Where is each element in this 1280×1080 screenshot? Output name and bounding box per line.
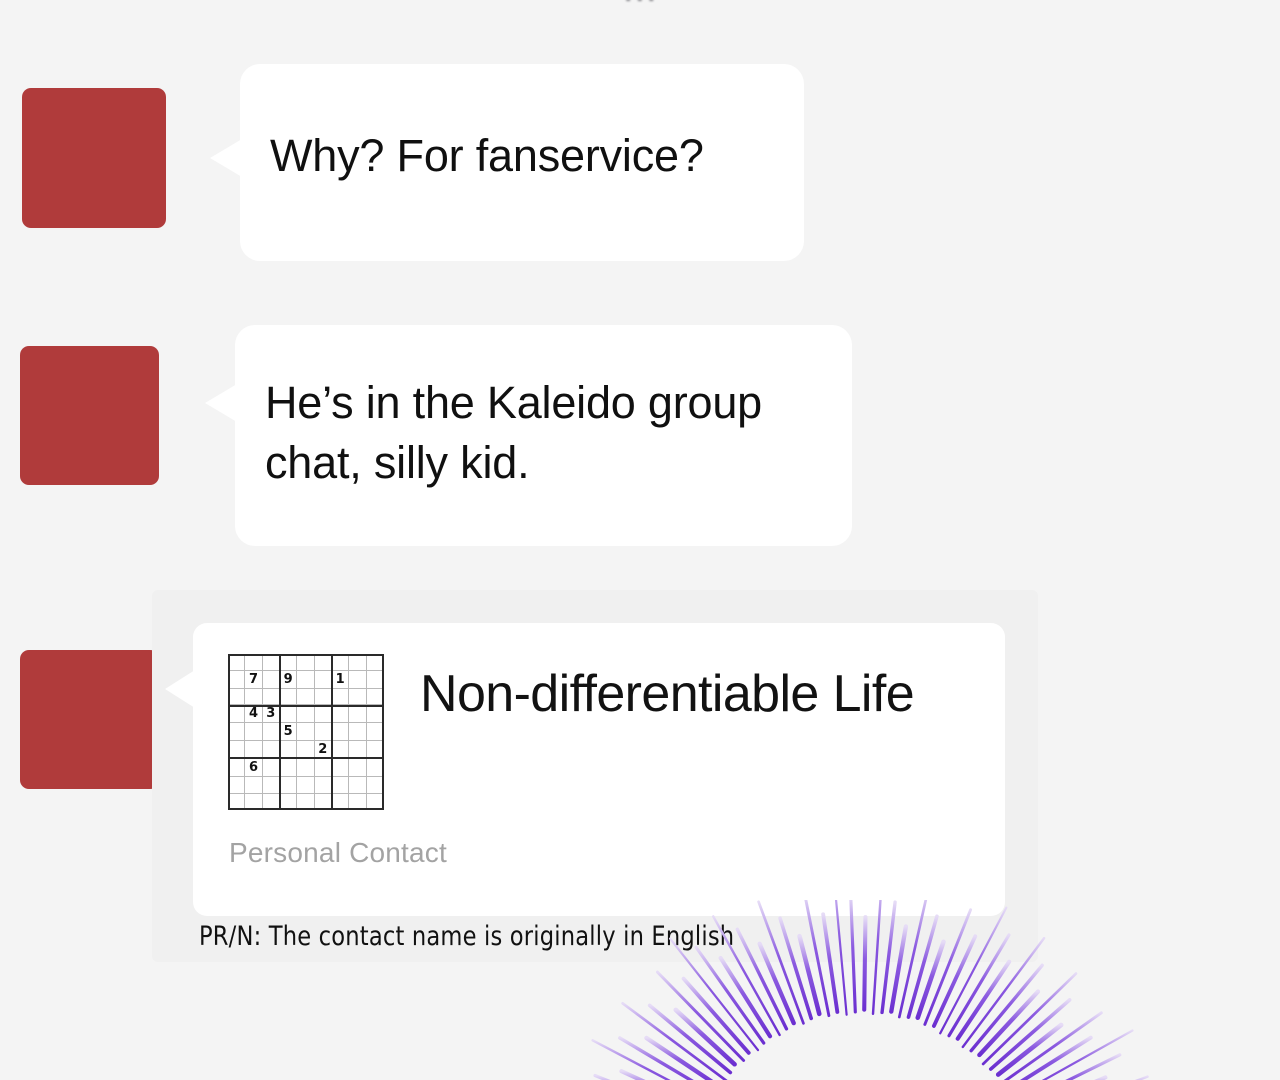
- burst-ray: [1001, 1013, 1102, 1080]
- burst-ray: [1007, 1038, 1090, 1080]
- contact-title-wrap: Non-differentiable Life: [420, 654, 914, 731]
- contact-card[interactable]: 79143526 Non-differentiable Life Persona…: [193, 623, 1005, 916]
- sudoku-cell: 6: [245, 759, 262, 777]
- burst-ray: [657, 972, 743, 1060]
- sudoku-cell: [297, 654, 314, 671]
- avatar[interactable]: [22, 88, 166, 228]
- burst-ray: [595, 1076, 704, 1080]
- sudoku-cell: [228, 654, 245, 671]
- sudoku-cell: [332, 705, 349, 723]
- sudoku-cell: [263, 723, 280, 741]
- sudoku-cell: [349, 671, 366, 689]
- sudoku-cell: [349, 777, 366, 794]
- sudoku-cell: [245, 654, 262, 671]
- sudoku-cell: 3: [263, 705, 280, 723]
- sudoku-cell: [228, 723, 245, 741]
- sudoku-cell: [332, 689, 349, 706]
- burst-ray: [991, 1000, 1070, 1069]
- burst-ray: [650, 1005, 731, 1072]
- sudoku-cell: [349, 654, 366, 671]
- burst-ray: [593, 1040, 713, 1080]
- sudoku-cell: [245, 777, 262, 794]
- chat-message-row: He’s in the Kaleido group chat, silly ki…: [20, 325, 852, 546]
- sudoku-cell: [245, 689, 262, 706]
- sudoku-cell: [228, 705, 245, 723]
- burst-ray: [623, 1003, 727, 1080]
- contact-card-shell: 79143526 Non-differentiable Life Persona…: [152, 590, 1038, 962]
- sudoku-cell: 4: [245, 705, 262, 723]
- burst-ray: [676, 1010, 735, 1064]
- burst-ray: [998, 1025, 1061, 1075]
- sudoku-cell: [280, 759, 297, 777]
- sudoku-cell: 1: [332, 671, 349, 689]
- chat-message-row: Why? For fanservice?: [22, 64, 804, 261]
- sudoku-cell: [332, 777, 349, 794]
- sudoku-cell: [280, 654, 297, 671]
- sudoku-cell: 5: [280, 723, 297, 741]
- speech-bubble: Why? For fanservice?: [240, 64, 804, 261]
- burst-ray: [646, 1038, 718, 1080]
- contact-card-row: [20, 650, 159, 789]
- sudoku-cell: [315, 705, 332, 723]
- sudoku-cell: [315, 671, 332, 689]
- sudoku-cell: [280, 777, 297, 794]
- contact-name: Non-differentiable Life: [420, 657, 914, 731]
- sudoku-cell: [228, 759, 245, 777]
- speech-bubble: He’s in the Kaleido group chat, silly ki…: [235, 325, 852, 546]
- translator-note: PR/N: The contact name is originally in …: [199, 921, 734, 952]
- burst-ray: [620, 1038, 715, 1080]
- burst-ray: [684, 979, 749, 1053]
- sudoku-cell: [349, 689, 366, 706]
- sudoku-thumbnail-icon: 79143526: [228, 654, 384, 810]
- message-text: He’s in the Kaleido group chat, silly ki…: [265, 373, 824, 493]
- sudoku-cell: [263, 654, 280, 671]
- burst-ray: [971, 965, 1042, 1050]
- burst-ray: [958, 962, 1009, 1039]
- sudoku-cell: [349, 759, 366, 777]
- message-text: Why? For fanservice?: [270, 126, 770, 186]
- sudoku-cell: [315, 689, 332, 706]
- sudoku-cell: [263, 759, 280, 777]
- sudoku-cell: [297, 723, 314, 741]
- sudoku-cell: [263, 777, 280, 794]
- sudoku-cell: [349, 705, 366, 723]
- sudoku-cell: [315, 777, 332, 794]
- contact-card-top: 79143526 Non-differentiable Life: [193, 623, 1005, 810]
- burst-ray: [1015, 1055, 1120, 1080]
- sudoku-cell: [228, 777, 245, 794]
- burst-ray: [1020, 1077, 1147, 1080]
- sudoku-cell: 7: [245, 671, 262, 689]
- sudoku-cell: [349, 723, 366, 741]
- sudoku-cell: 9: [280, 671, 297, 689]
- sudoku-cell: [228, 671, 245, 689]
- sudoku-cell: [332, 654, 349, 671]
- bubble-tail-icon: [165, 670, 195, 708]
- sudoku-cell: [263, 689, 280, 706]
- burst-ray: [621, 1071, 705, 1080]
- sudoku-cell: [297, 759, 314, 777]
- sudoku-cell: [228, 689, 245, 706]
- burst-ray: [983, 974, 1076, 1064]
- burst-ray: [1009, 1031, 1133, 1080]
- sudoku-cell: [297, 705, 314, 723]
- sudoku-cell: [297, 689, 314, 706]
- burst-ray: [721, 958, 770, 1036]
- avatar[interactable]: [20, 346, 159, 485]
- bubble-tail-icon: [205, 384, 237, 422]
- avatar[interactable]: [20, 650, 159, 789]
- sudoku-cell: [297, 671, 314, 689]
- burst-ray: [979, 992, 1038, 1055]
- sudoku-cell: [297, 777, 314, 794]
- sudoku-cell: [315, 654, 332, 671]
- sudoku-cell: [280, 705, 297, 723]
- sudoku-cell: [315, 759, 332, 777]
- sudoku-cell: [263, 671, 280, 689]
- sudoku-cell: [315, 723, 332, 741]
- sudoku-cell: [245, 723, 262, 741]
- cut-off-page-title: ...: [0, 0, 1280, 11]
- sudoku-cell: [332, 759, 349, 777]
- sudoku-cell: [332, 723, 349, 741]
- sudoku-cell: [280, 689, 297, 706]
- bubble-tail-icon: [210, 139, 242, 177]
- contact-subtitle: Personal Contact: [229, 837, 447, 869]
